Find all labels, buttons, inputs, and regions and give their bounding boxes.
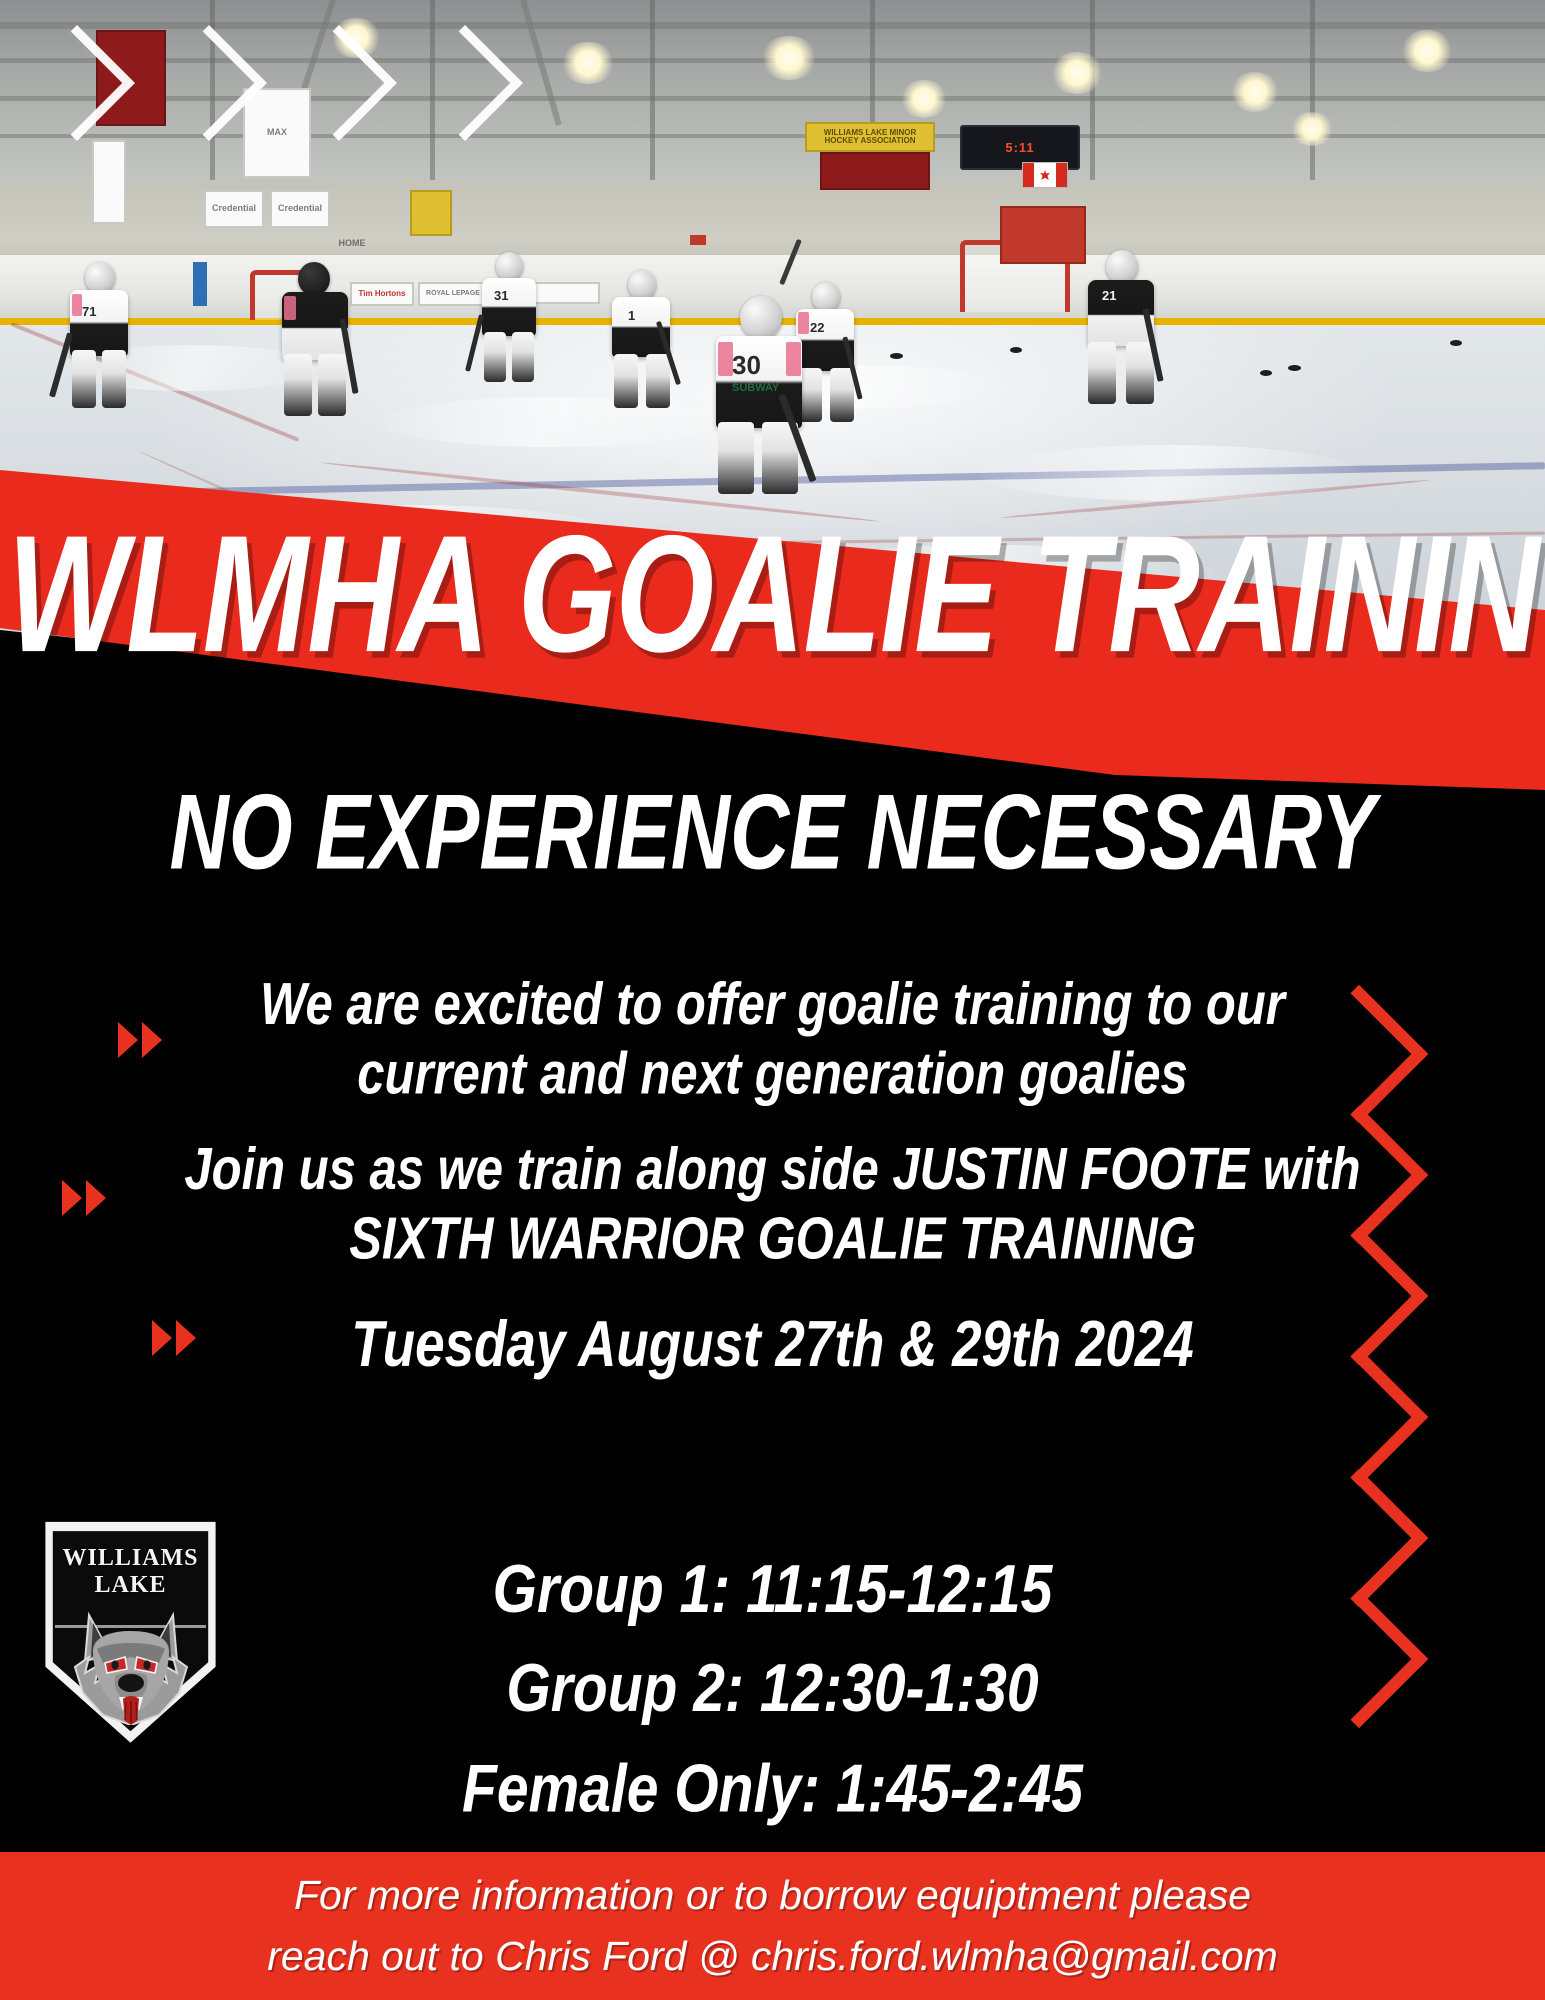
wall-sign: Credential — [270, 190, 330, 228]
logo-text: WILLIAMS LAKE — [38, 1545, 223, 1599]
puck — [1288, 365, 1301, 371]
schedule-group-2: Group 2: 12:30-1:30 — [0, 1640, 1545, 1740]
bullet-row-2: Join us as we train along side JUSTIN FO… — [0, 1120, 1545, 1290]
ceiling-light — [1400, 30, 1454, 72]
bullet-2-line-2: SIXTH WARRIOR GOALIE TRAINING — [0, 1205, 1545, 1274]
rink-door — [1000, 206, 1086, 264]
ceiling-light — [900, 80, 948, 118]
puck — [890, 353, 903, 359]
goalie-player: 1 — [600, 270, 688, 420]
ceiling-light — [1050, 52, 1104, 94]
wall-sign: Credential — [204, 190, 264, 228]
puck — [1450, 340, 1462, 346]
ceiling-light — [1230, 72, 1280, 112]
wolf-head-icon — [67, 1607, 195, 1725]
hanging-banner — [410, 190, 452, 236]
truss-post — [1090, 0, 1095, 185]
bullet-row-1: We are excited to offer goalie training … — [0, 960, 1545, 1120]
footer-line-1: For more information or to borrow equipt… — [294, 1872, 1251, 1919]
bullet-2-text: Join us as we train along side JUSTIN FO… — [0, 1136, 1545, 1275]
footer-contact-bar: For more information or to borrow equipt… — [0, 1852, 1545, 2000]
page-title: WLMHA GOALIE TRAINING — [8, 512, 1538, 678]
board-ad — [193, 262, 207, 306]
jersey-sponsor: SUBWAY — [732, 382, 779, 394]
coach-arm — [770, 238, 810, 298]
schedule-female-only: Female Only: 1:45-2:45 — [0, 1739, 1545, 1839]
goalie-player: 21 — [1076, 250, 1172, 412]
bullet-3-line-1: Tuesday August 27th & 29th 2024 — [0, 1308, 1545, 1383]
bullet-1-text: We are excited to offer goalie training … — [0, 971, 1545, 1110]
ceiling-light — [1290, 112, 1334, 146]
bullet-2-line-1: Join us as we train along side JUSTIN FO… — [0, 1136, 1545, 1205]
bullet-1-line-2: current and next generation goalies — [0, 1040, 1545, 1109]
ceiling-light — [560, 42, 616, 84]
title-block: WLMHA GOALIE TRAINING — [0, 512, 1545, 640]
goalie-player: 71 — [58, 262, 140, 422]
hanging-banner — [820, 152, 930, 190]
canada-flag-icon — [1022, 162, 1068, 188]
puck — [1260, 370, 1272, 376]
puck — [1010, 347, 1022, 353]
poster-root: MAX Credential Credential HOME WILLIAMS … — [0, 0, 1545, 2000]
ice-scuff — [980, 445, 1360, 501]
schedule-group-1: Group 1: 11:15-12:15 — [0, 1540, 1545, 1640]
bullet-row-3: Tuesday August 27th & 29th 2024 — [0, 1290, 1545, 1400]
footer-line-2: reach out to Chris Ford @ chris.ford.wlm… — [267, 1933, 1278, 1980]
bullet-3-text: Tuesday August 27th & 29th 2024 — [0, 1308, 1545, 1383]
association-banner: WILLIAMS LAKE MINOR HOCKEY ASSOCIATION — [805, 122, 935, 152]
bullet-1-line-1: We are excited to offer goalie training … — [0, 971, 1545, 1040]
schedule-block: Group 1: 11:15-12:15 Group 2: 12:30-1:30… — [0, 1540, 1545, 1839]
goalie-player-foreground: 30 SUBWAY — [702, 296, 832, 496]
body-content: We are excited to offer goalie training … — [0, 960, 1545, 1400]
truss-post — [650, 0, 655, 185]
goalie-player: 31 — [470, 252, 550, 392]
truss-post — [1310, 0, 1315, 185]
exit-light — [690, 235, 706, 245]
ceiling-light — [760, 36, 818, 80]
wlmha-logo: WILLIAMS LAKE — [38, 1515, 223, 1745]
wall-sign — [92, 140, 126, 224]
goalie-player — [268, 262, 368, 430]
home-sign: HOME — [330, 236, 374, 252]
page-subtitle: NO EXPERIENCE NECESSARY — [0, 780, 1545, 887]
